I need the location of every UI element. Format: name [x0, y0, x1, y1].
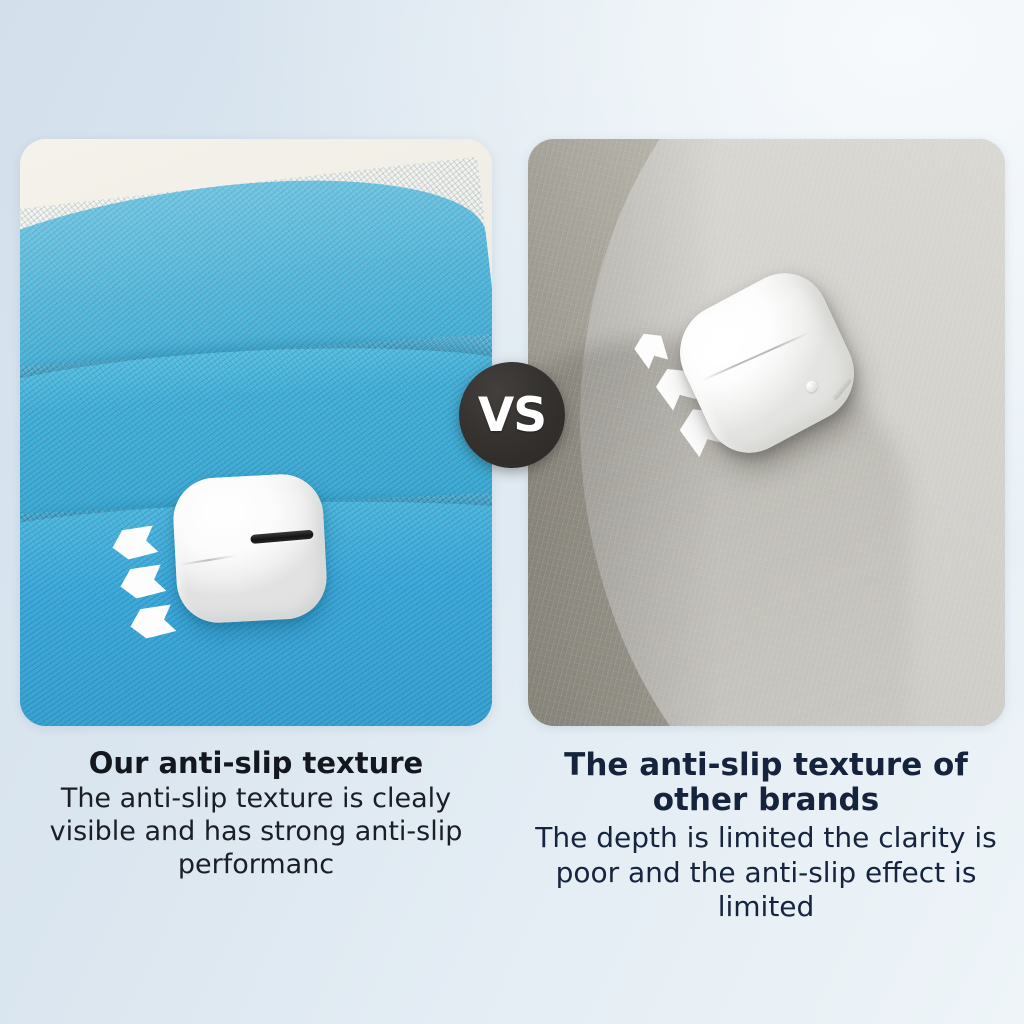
right-caption-title: The anti-slip texture of other brands: [520, 748, 1012, 817]
vs-badge: VS: [459, 362, 565, 468]
left-caption-body: The anti-slip texture is clealy visible …: [16, 783, 496, 882]
earbud-case-led-indicator: [805, 379, 819, 394]
right-comparison-panel: [528, 139, 1005, 726]
right-caption-block: The anti-slip texture of other brands Th…: [520, 748, 1012, 924]
earbud-case-gloss: [695, 304, 784, 378]
earbud-case-seam: [180, 555, 237, 566]
left-product-photo: [20, 139, 492, 726]
earbud-case-ours: [171, 472, 328, 625]
comparison-infographic: VS Our anti-slip texture The anti-slip t…: [0, 0, 1024, 1024]
right-caption-body: The depth is limited the clarity is poor…: [520, 821, 1012, 923]
right-product-photo: [528, 139, 1005, 726]
left-caption-block: Our anti-slip texture The anti-slip text…: [16, 748, 496, 882]
vs-label: VS: [478, 392, 546, 439]
earbud-case-slot: [250, 530, 314, 544]
left-comparison-panel: [20, 139, 492, 726]
left-caption-title: Our anti-slip texture: [16, 748, 496, 779]
